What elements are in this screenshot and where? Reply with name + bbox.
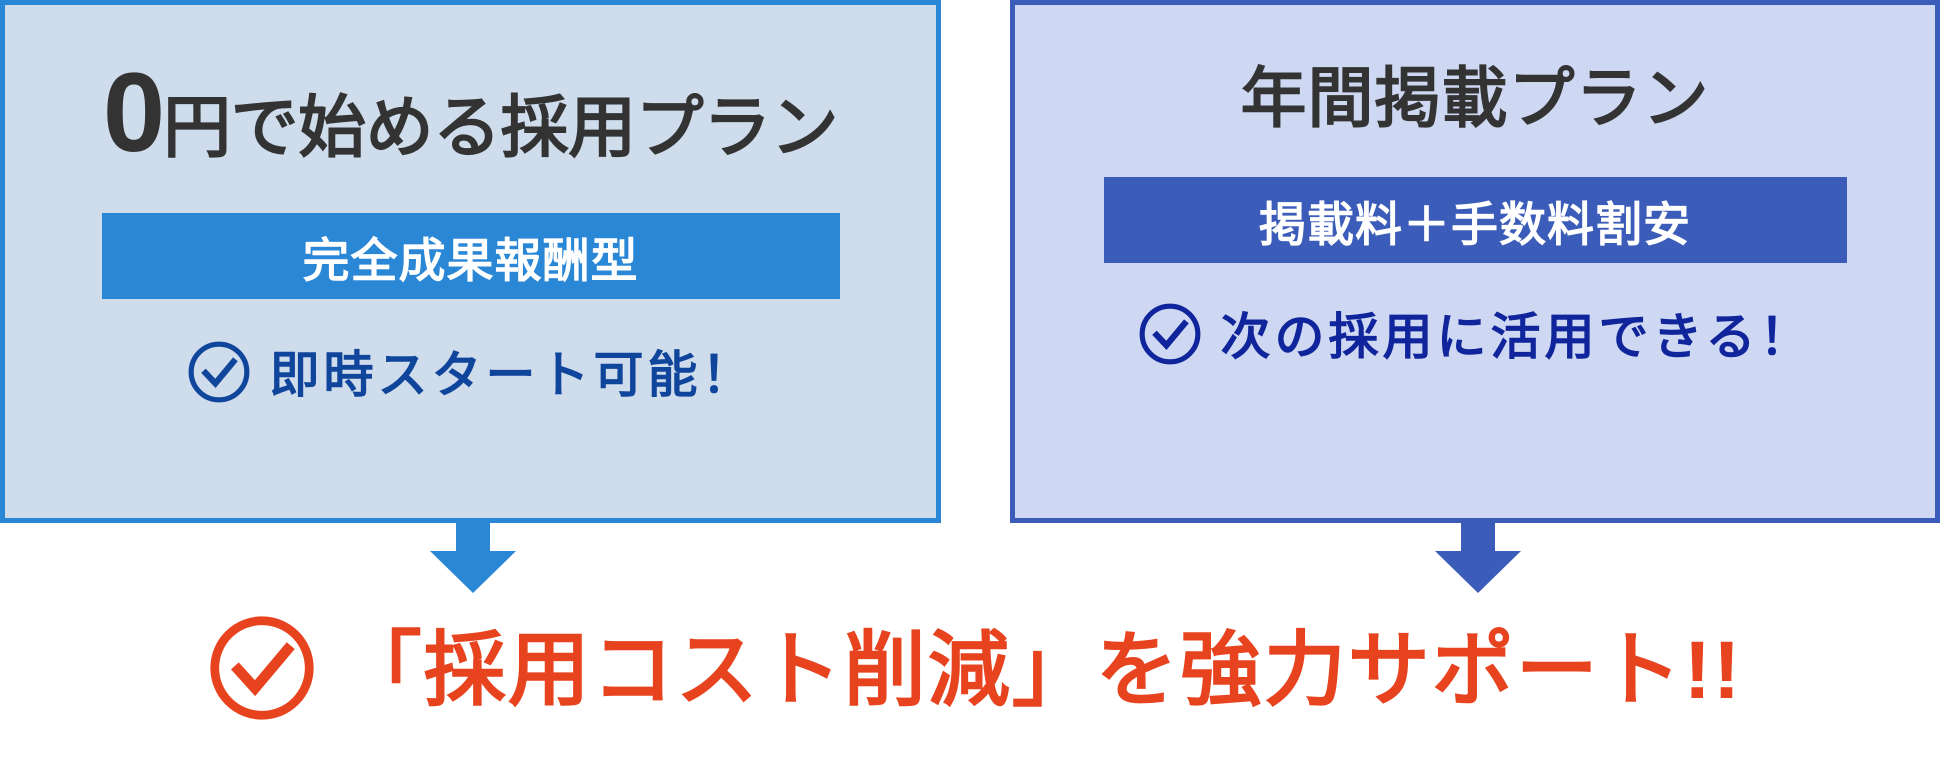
plan-badge-label: 完全成果報酬型 bbox=[303, 222, 639, 291]
plan-comparison-graphic: 0円で始める採用プラン 完全成果報酬型 即時スタート可能！ 年間掲載プラン 掲載… bbox=[0, 0, 1948, 767]
plan-badge-free: 完全成果報酬型 bbox=[102, 213, 840, 299]
plan-card-annual[interactable]: 年間掲載プラン 掲載料＋手数料割安 次の採用に活用できる！ bbox=[1010, 0, 1940, 523]
down-arrow-icon-left bbox=[430, 523, 516, 593]
plan-title-free: 0円で始める採用プラン bbox=[103, 57, 838, 169]
circle-check-icon bbox=[186, 339, 252, 410]
plan-title-highlight: 0 bbox=[103, 57, 163, 169]
support-banner: 「採用コスト削減」を強力サポート!! bbox=[0, 612, 1948, 729]
plan-title-rest: 年間掲載プラン bbox=[1241, 65, 1710, 131]
support-banner-text: 「採用コスト削減」を強力サポート!! bbox=[340, 630, 1743, 712]
plan-feature-annual: 次の採用に活用できる！ bbox=[1137, 301, 1814, 372]
circle-check-icon bbox=[206, 612, 318, 729]
plan-badge-annual: 掲載料＋手数料割安 bbox=[1104, 177, 1847, 263]
plan-title-rest: 円で始める採用プラン bbox=[163, 94, 838, 162]
plan-feature-label: 次の採用に活用できる！ bbox=[1221, 312, 1814, 362]
down-arrow-icon-right bbox=[1435, 523, 1521, 593]
plan-card-free[interactable]: 0円で始める採用プラン 完全成果報酬型 即時スタート可能！ bbox=[0, 0, 941, 523]
plan-feature-label: 即時スタート可能！ bbox=[270, 350, 756, 400]
circle-check-icon bbox=[1137, 301, 1203, 372]
plan-feature-free: 即時スタート可能！ bbox=[186, 339, 756, 410]
plan-title-annual: 年間掲載プラン bbox=[1241, 65, 1710, 131]
plan-badge-label: 掲載料＋手数料割安 bbox=[1259, 186, 1691, 255]
